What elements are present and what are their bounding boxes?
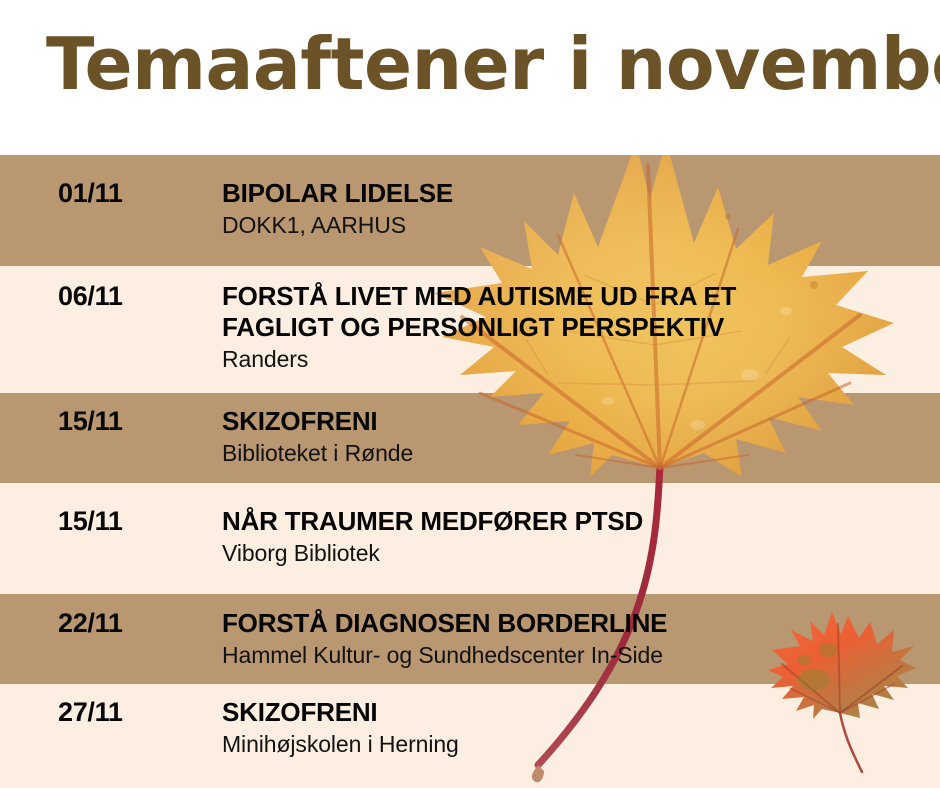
event-row: 15/11SKIZOFRENIBiblioteket i Rønde [0,406,940,483]
event-title: FORSTÅ LIVET MED AUTISME UD FRA ET FAGLI… [222,281,930,343]
event-info: FORSTÅ DIAGNOSEN BORDERLINEHammel Kultur… [222,608,930,669]
event-info: SKIZOFRENIMinihøjskolen i Herning [222,697,930,758]
event-location: Randers [222,345,930,373]
event-location: Biblioteket i Rønde [222,439,930,467]
event-title: BIPOLAR LIDELSE [222,178,930,209]
event-title: SKIZOFRENI [222,697,930,728]
event-date: 27/11 [58,697,208,727]
event-row: 15/11NÅR TRAUMER MEDFØRER PTSDViborg Bib… [0,506,940,594]
event-title: FORSTÅ DIAGNOSEN BORDERLINE [222,608,930,639]
event-title: NÅR TRAUMER MEDFØRER PTSD [222,506,930,537]
event-location: Hammel Kultur- og Sundhedscenter In-Side [222,641,930,669]
event-location: Minihøjskolen i Herning [222,730,930,758]
event-row: 27/11SKIZOFRENIMinihøjskolen i Herning [0,697,940,788]
event-date: 22/11 [58,608,208,638]
event-info: SKIZOFRENIBiblioteket i Rønde [222,406,930,467]
event-location: DOKK1, AARHUS [222,211,930,239]
event-location: Viborg Bibliotek [222,539,930,567]
event-row: 06/11FORSTÅ LIVET MED AUTISME UD FRA ET … [0,281,940,393]
event-date: 06/11 [58,281,208,311]
event-date: 15/11 [58,506,208,536]
event-info: BIPOLAR LIDELSEDOKK1, AARHUS [222,178,930,239]
event-info: FORSTÅ LIVET MED AUTISME UD FRA ET FAGLI… [222,281,930,373]
event-info: NÅR TRAUMER MEDFØRER PTSDViborg Bibliote… [222,506,930,567]
event-title: SKIZOFRENI [222,406,930,437]
event-date: 15/11 [58,406,208,436]
event-row: 22/11FORSTÅ DIAGNOSEN BORDERLINEHammel K… [0,608,940,684]
event-date: 01/11 [58,178,208,208]
page-title: Temaaftener i november [46,26,893,102]
event-row: 01/11BIPOLAR LIDELSEDOKK1, AARHUS [0,178,940,266]
title-area: Temaaftener i november [0,0,940,155]
poster: Temaaftener i november 01/11BIPOLAR LIDE… [0,0,940,788]
